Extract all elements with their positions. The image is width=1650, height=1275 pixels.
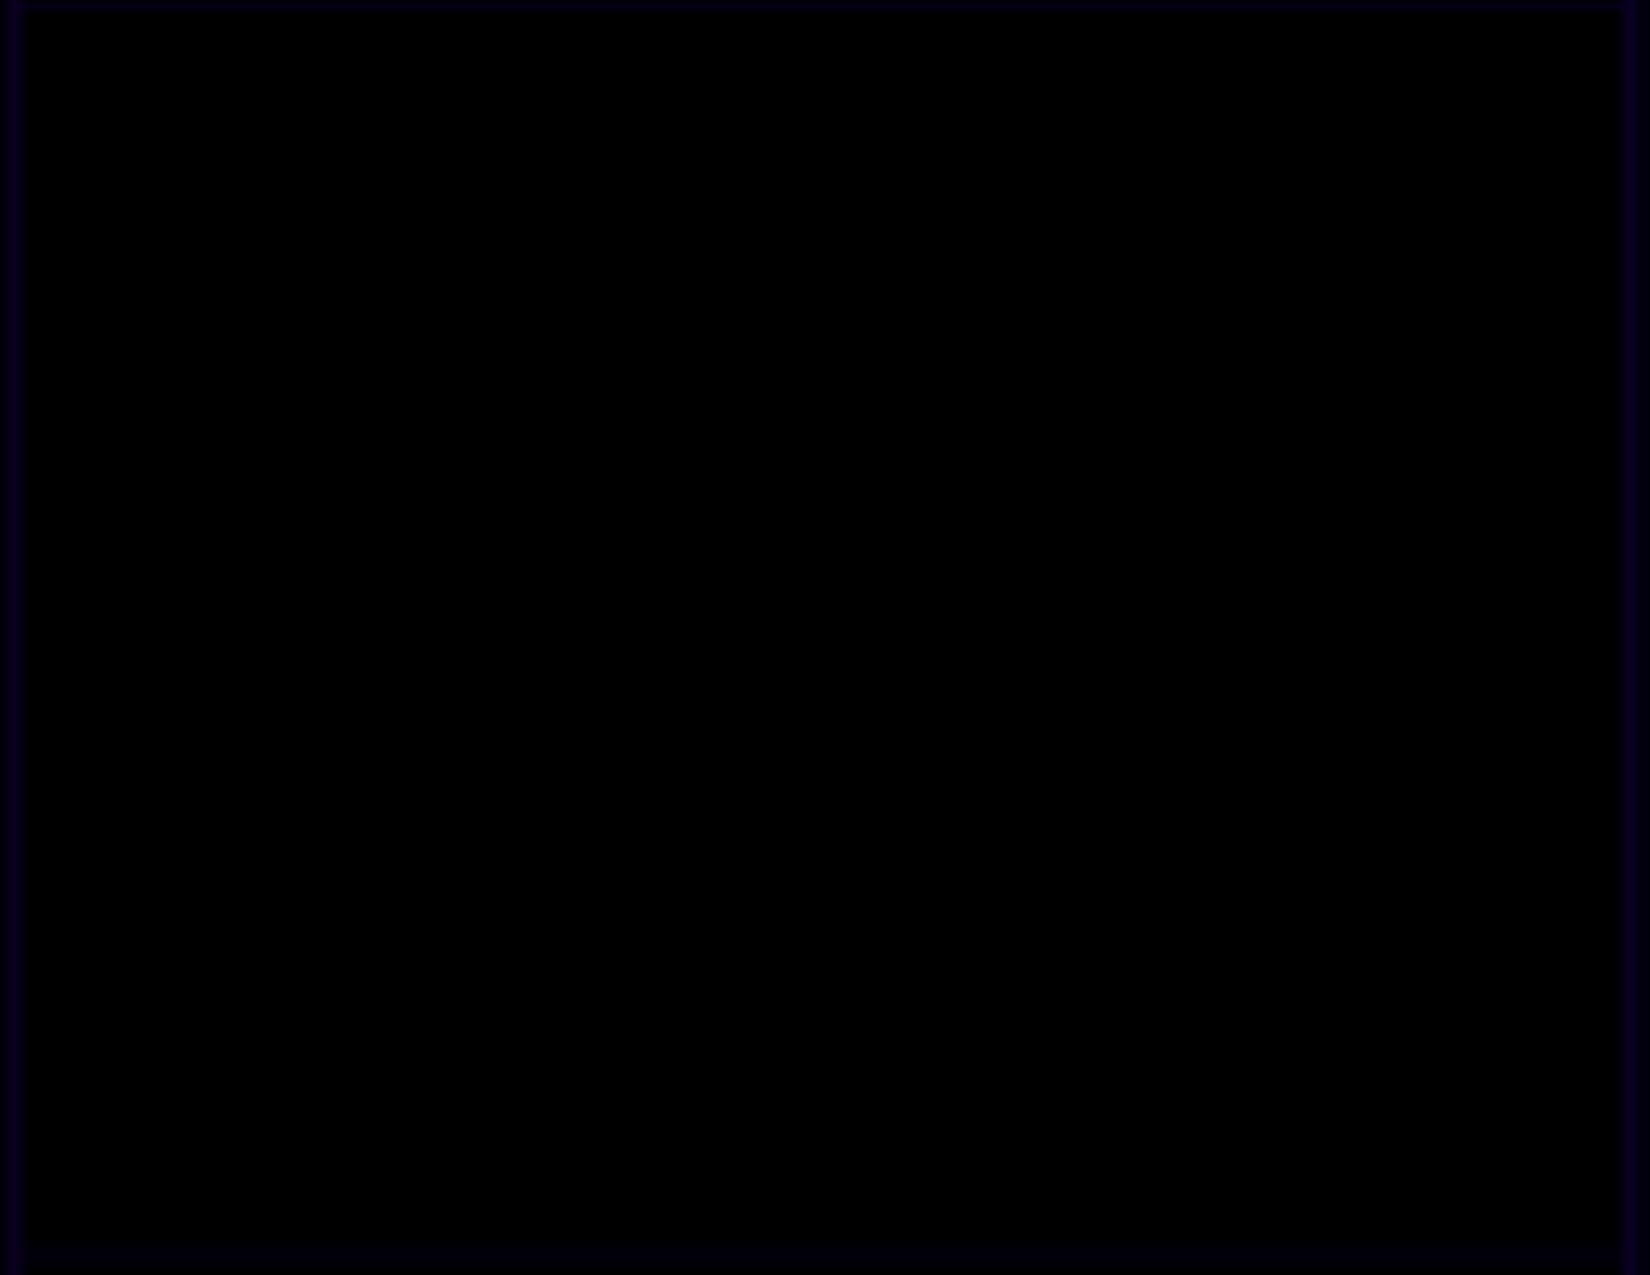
verse-slide: “But as soon as they had rest, they did … [0, 0, 1650, 1275]
attribution-line: — Nehemiah 9:28 (NASB®) [156, 695, 1559, 789]
verse-attribution-block: “But as soon as they had rest, they did … [58, 100, 1560, 789]
attribution-closing-paren: ) [1535, 703, 1558, 789]
registered-trademark-icon: ® [1508, 715, 1535, 759]
attribution-citation: — Nehemiah 9:28 (NASB [671, 703, 1507, 789]
